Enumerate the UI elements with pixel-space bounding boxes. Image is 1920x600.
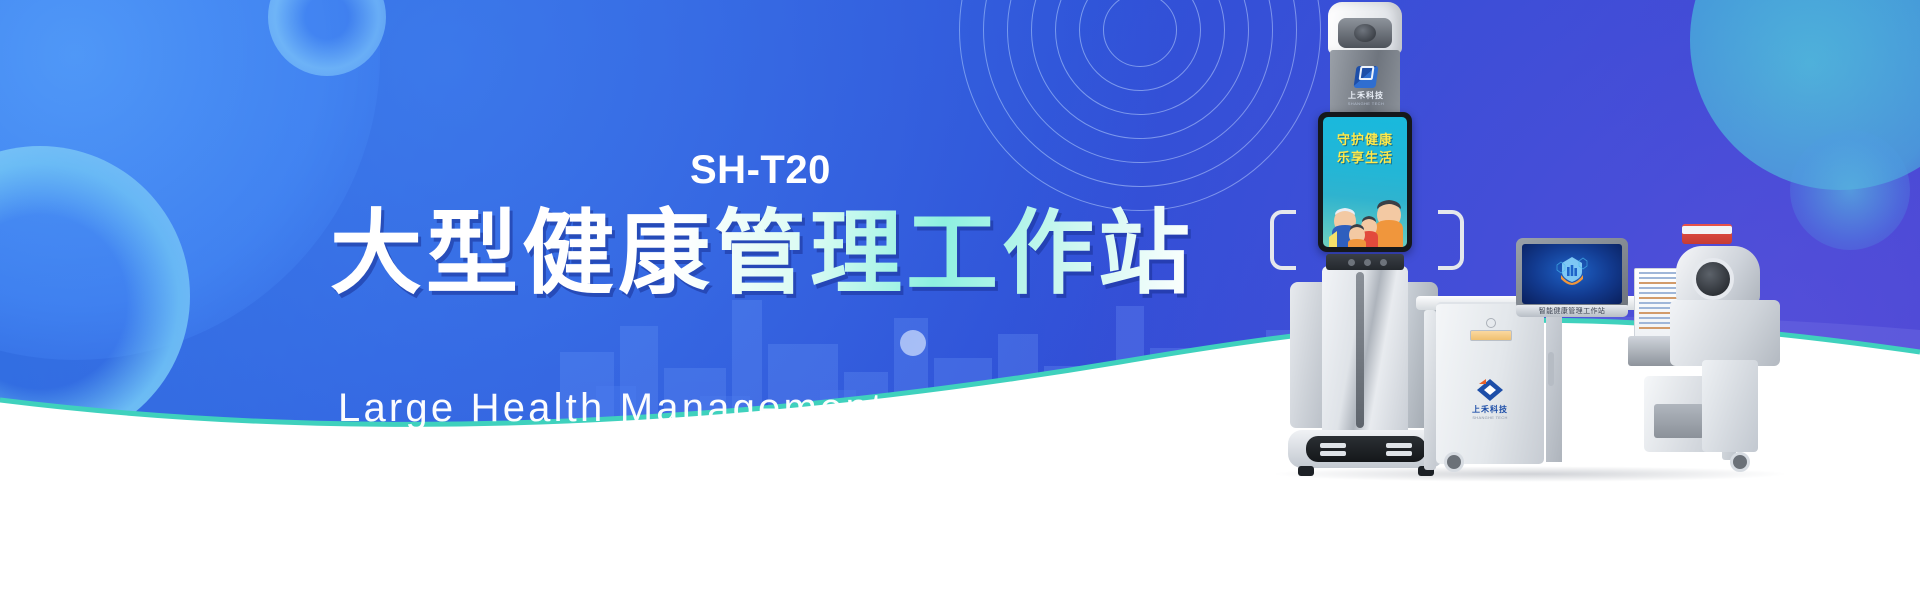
page-subtitle: Large Health Management workstation [338, 386, 1137, 431]
kiosk-brand-name-cn: 上禾科技 [1340, 90, 1392, 101]
product-banner: SH-T20 大型健康管理工作站 Large Health Management… [0, 0, 1920, 600]
analyzer-body [1670, 300, 1780, 366]
cabinet-indicator-icon [1486, 318, 1496, 328]
product-image: 上禾科技 SHANGHE TECH 守护健康 乐享生活 [1230, 0, 1920, 600]
analyzer-column [1702, 360, 1758, 452]
cabinet-brand-logo: 上禾科技 SHANGHE TECH [1466, 376, 1514, 422]
product-shadow [1270, 466, 1790, 482]
laptop-lid[interactable] [1516, 238, 1628, 310]
kiosk-handle-left-icon [1270, 210, 1296, 270]
kiosk-body [1322, 266, 1408, 434]
brand-mark-icon [1353, 66, 1378, 88]
height-sensor-icon [1354, 24, 1376, 42]
model-label: SH-T20 [690, 148, 831, 193]
weight-scale-platform[interactable] [1306, 436, 1426, 462]
cabinet-brand-name-en: SHANGHE TECH [1466, 415, 1514, 420]
health-shield-hands-icon [1555, 255, 1589, 285]
brand-mark-icon [1473, 376, 1507, 404]
analyzer-module-panel [1654, 404, 1704, 438]
cabinet-handle[interactable] [1548, 352, 1554, 386]
kiosk-display-frame[interactable]: 守护健康 乐享生活 [1318, 112, 1412, 252]
kiosk-brand-name-en: SHANGHE TECH [1340, 101, 1392, 106]
page-title: 大型健康管理工作站 [330, 205, 1194, 304]
kiosk-handle-right-icon [1438, 210, 1464, 270]
kiosk-grip-tray [1326, 254, 1404, 270]
desk-leg-left [1424, 310, 1436, 470]
kiosk-side-left [1290, 282, 1326, 428]
cabinet-brand-name-cn: 上禾科技 [1466, 404, 1514, 415]
kiosk-display-screen[interactable]: 守护健康 乐享生活 [1323, 117, 1407, 247]
kiosk-screen-line2: 乐享生活 [1323, 147, 1407, 166]
analyzer-lens-icon [1692, 258, 1734, 300]
laptop-caption: 智能健康管理工作站 [1516, 306, 1628, 316]
kiosk-screen-line1: 守护健康 [1323, 129, 1407, 148]
card-slot-icon [1470, 330, 1512, 341]
caster-wheel-icon [1730, 452, 1750, 472]
caster-wheel-icon [1444, 452, 1464, 472]
kiosk-stripe [1356, 272, 1364, 428]
kiosk-brand-logo: 上禾科技 SHANGHE TECH [1340, 60, 1392, 106]
laptop-screen[interactable] [1522, 244, 1622, 304]
family-illustration-icon [1327, 175, 1407, 247]
analyzer-top-strip [1682, 226, 1732, 234]
